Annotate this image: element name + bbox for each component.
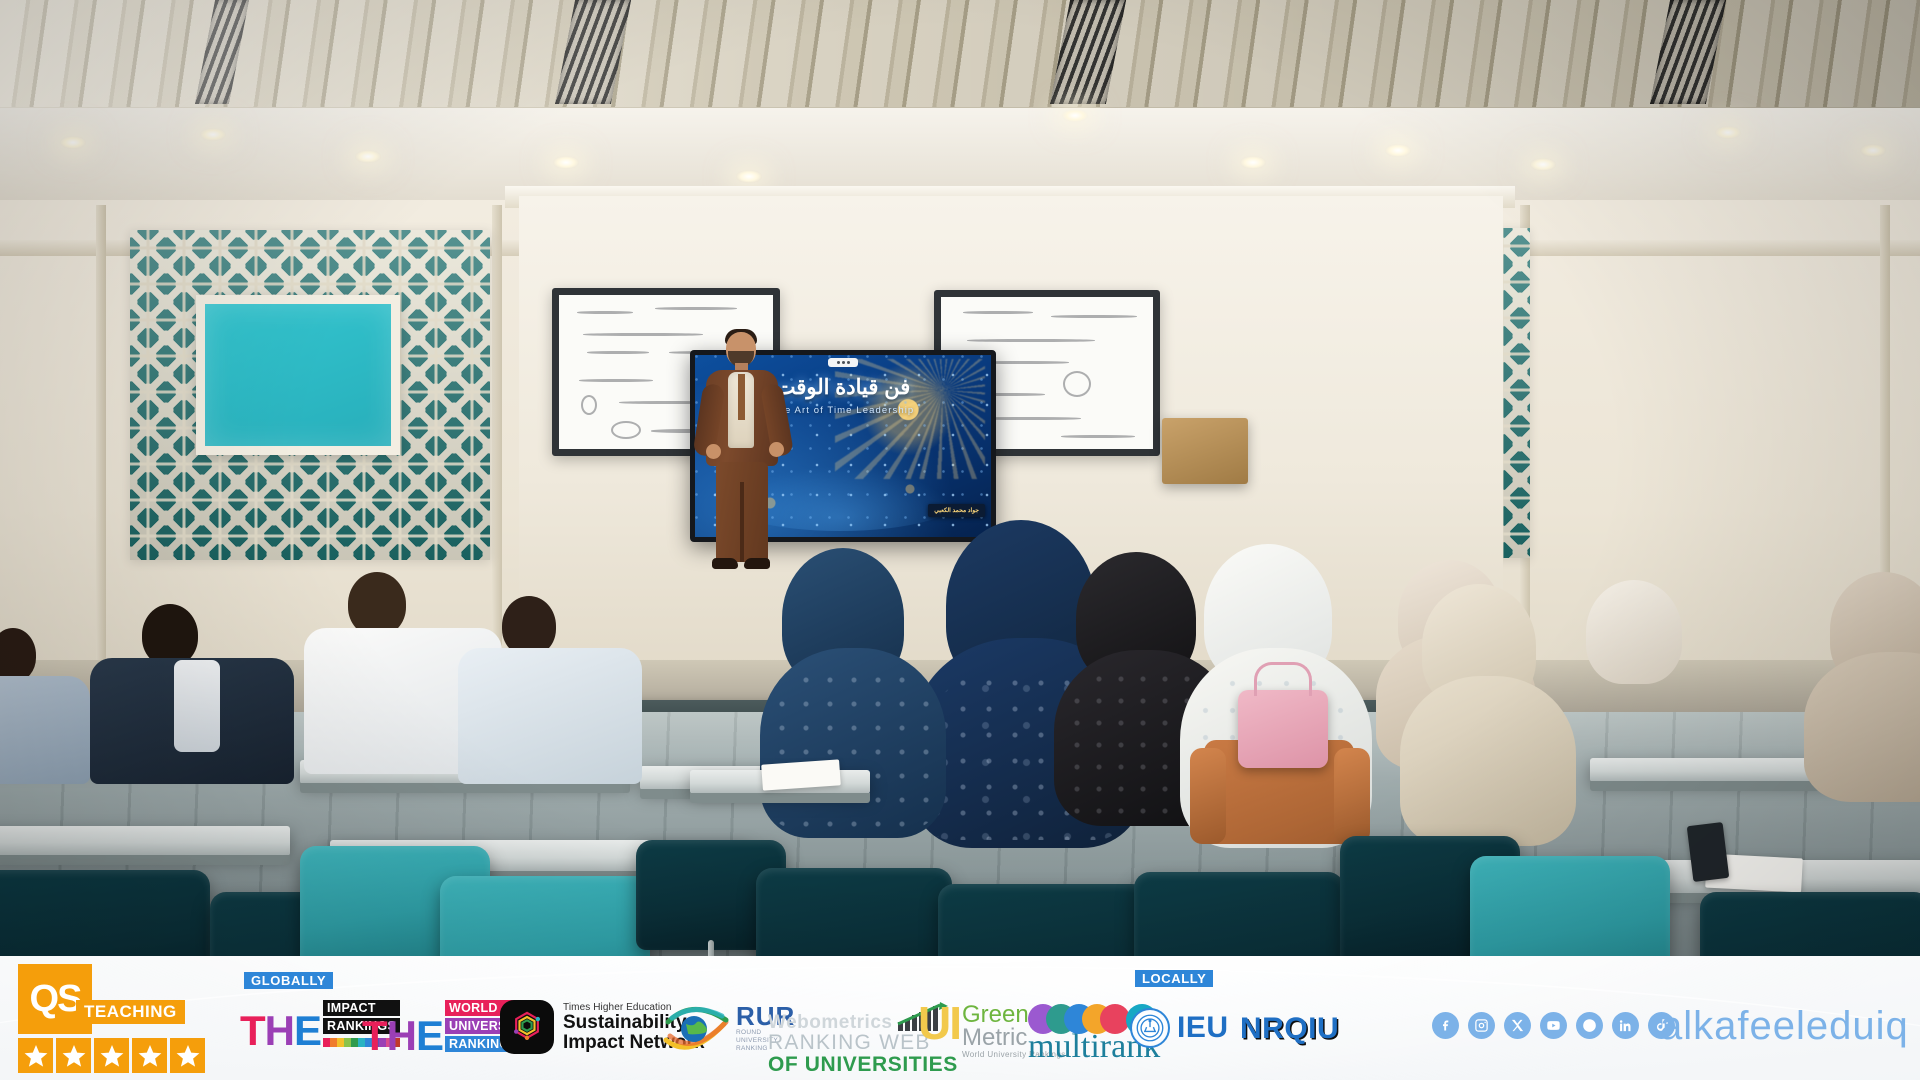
ceiling-shading [0,0,1920,112]
ceiling-downlight [1240,156,1266,169]
qs-star-icon [170,1038,205,1073]
presenter-leg-split [740,482,744,562]
qs-star-icon [94,1038,129,1073]
ieu-label: IEU [1177,1011,1229,1045]
instagram-icon[interactable] [1468,1012,1495,1039]
the-letter-h: H [265,1013,294,1049]
whiteboard-scribble [1063,371,1091,397]
whiteboard-scribble [655,307,737,310]
dribbble-icon[interactable] [1576,1012,1603,1039]
ieu-seal-icon [1130,1008,1170,1048]
webometrics-brand: Webometrics [768,1013,892,1032]
whiteboard-scribble [967,339,1095,342]
whiteboard-scribble [1051,315,1137,318]
student-figure [468,596,628,772]
social-handle[interactable]: alkafeeleduiq [1660,1004,1909,1049]
student-desk [0,826,290,856]
student-figure [1800,572,1920,782]
camera-lens-icon [842,361,845,364]
whiteboard-scribble [577,311,633,314]
desk-edge [690,793,870,803]
camera-lens-icon [837,361,840,364]
teal-wall-board-left [196,295,400,455]
ceiling-downlight [1860,144,1886,157]
presenter-left-shoe [712,558,738,569]
facebook-icon[interactable] [1432,1012,1459,1039]
the-letter-e: E [294,1013,321,1049]
presenter-tie [738,374,745,420]
whiteboard-scribble [1061,435,1135,438]
student-figure [0,628,96,768]
whiteboard-scribble [581,395,597,415]
ceiling-downlight [1385,144,1411,157]
backpack-strap [1334,748,1370,844]
the-letter-t: T [362,1018,387,1054]
student-hijab-drape [1400,676,1576,846]
camera-lens-icon [847,361,850,364]
mobile-phone [1687,822,1730,882]
wooden-lectern [1162,418,1248,484]
x-icon[interactable] [1504,1012,1531,1039]
student-figure [1400,584,1580,834]
desk-edge [0,855,290,865]
student-figure [96,604,286,774]
the-letter-h: H [387,1018,416,1054]
pink-handbag [1238,690,1328,768]
sustainability-hexagon-icon [500,1000,554,1054]
the-wordmark: THE [362,1018,443,1054]
display-camera-bar [828,358,858,367]
qs-star-icon [18,1038,53,1073]
student-torso [0,676,90,784]
the-wordmark: THE [240,1013,321,1049]
linkedin-icon[interactable] [1612,1012,1639,1039]
backpack-strap [1190,748,1226,844]
whiteboard-scribble [583,333,703,336]
presenter-right-hand [769,442,784,457]
hijab-floral-pattern [770,668,936,828]
student-shirt [174,660,220,752]
student-head [348,572,406,636]
nrqiu-logo[interactable]: NRQIU [1240,1012,1339,1046]
rur-globe-eye-icon [660,1002,730,1054]
lecture-hall-photo: فن قيادة الوقت The Art of Time Leadershi… [0,0,1920,1080]
rankings-footer-banner: QS TEACHING GLOBALLY THE IMPACT R [0,956,1920,1080]
social-links [1432,1012,1675,1039]
handbag-strap [1254,662,1312,696]
speaker-nameplate: جواد محمد الكعبي [928,504,985,517]
student-hijab-drape [1564,650,1714,780]
presenter-left-hand [706,444,721,459]
ceiling-downlight [1062,109,1088,122]
qs-star-icon [132,1038,167,1073]
student-head [142,604,198,666]
the-letter-t: T [240,1013,265,1049]
whiteboard-scribble [611,421,641,439]
ceiling-downlight [553,156,579,169]
ceiling-downlight [355,150,381,163]
ceiling-downlight [60,136,86,149]
ieu-logo[interactable]: IEU [1130,1008,1229,1048]
ceiling-downlight [200,128,226,141]
student-torso [458,648,642,784]
locally-badge: LOCALLY [1135,970,1213,987]
qs-star-rating [18,1038,205,1073]
whiteboard-scribble [963,311,1033,314]
slatted-ceiling [0,0,1920,112]
whiteboard-scribble [587,351,649,354]
greenmetric-ui-mark: UI [918,1004,960,1044]
screenshot-root: فن قيادة الوقت The Art of Time Leadershi… [0,0,1920,1080]
qs-category-badge: TEACHING [76,1000,185,1024]
student-head [502,596,556,656]
notebook-paper [761,759,841,790]
qs-star-icon [56,1038,91,1073]
ceiling-downlight [736,170,762,183]
presenter-figure [700,332,784,568]
qs-mark-label: QS [30,980,81,1018]
ceiling-downlight [1715,126,1741,139]
student-head [0,628,36,682]
youtube-icon[interactable] [1540,1012,1567,1039]
whiteboard-scribble [579,379,653,382]
ceiling-downlight [1530,158,1556,171]
student-hijab-drape [1804,652,1920,802]
globally-badge: GLOBALLY [244,972,333,989]
desk-edge [300,783,630,793]
student-figure [1560,580,1730,770]
the-letter-e: E [416,1018,443,1054]
